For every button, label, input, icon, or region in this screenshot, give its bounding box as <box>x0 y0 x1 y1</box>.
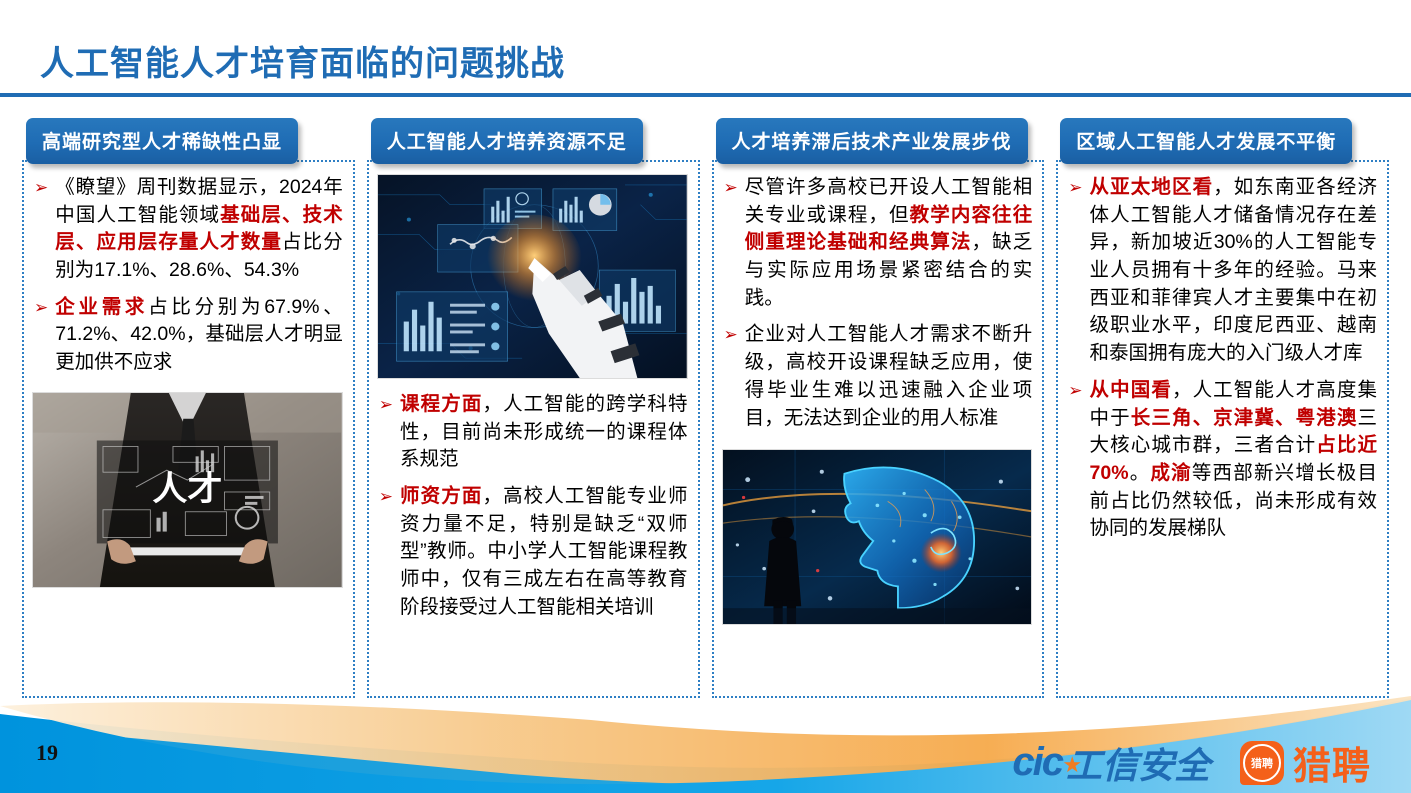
photo-caption: 人才 <box>152 470 222 507</box>
cic-wordmark: cic★ <box>1012 740 1062 785</box>
star-icon: ★ <box>1062 752 1080 778</box>
bullet-arrow-icon: ➢ <box>377 391 400 418</box>
list-item: ➢ 《瞭望》周刊数据显示，2024年中国人工智能领域基础层、技术层、应用层存量人… <box>32 174 343 285</box>
businessman-tablet-talent-photo: 人才 <box>32 392 343 588</box>
bullet-arrow-icon: ➢ <box>32 174 55 201</box>
bullet-text: 课程方面，人工智能的跨学科特性，目前尚未形成统一的课程体系规范 <box>400 391 688 474</box>
columns-container: 高端研究型人才稀缺性凸显 ➢ 《瞭望》周刊数据显示，2024年中国人工智能领域基… <box>0 118 1411 698</box>
bullet-text: 企业需求占比分别为67.9%、71.2%、42.0%，基础层人才明显更加供不应求 <box>55 294 343 377</box>
bullet-arrow-icon: ➢ <box>377 483 400 510</box>
person-ai-head-photo <box>722 449 1033 625</box>
column-4-body: ➢ 从亚太地区看，如东南亚各经济体人工智能人才储备情况存在差异，新加坡近30%的… <box>1056 160 1389 698</box>
column-2-body: ➢ 课程方面，人工智能的跨学科特性，目前尚未形成统一的课程体系规范 ➢ 师资方面… <box>367 160 700 698</box>
footer-logos: cic★ 工信安全 猎聘 猎聘 <box>1012 735 1371 790</box>
column-3: 人才培养滞后技术产业发展步伐 ➢ 尽管许多高校已开设人工智能相关专业或课程，但教… <box>712 118 1045 698</box>
page-number: 19 <box>36 740 58 766</box>
page-title: 人工智能人才培育面临的问题挑战 <box>40 36 565 85</box>
list-item: ➢ 课程方面，人工智能的跨学科特性，目前尚未形成统一的课程体系规范 <box>377 391 688 474</box>
column-4: 区域人工智能人才发展不平衡 ➢ 从亚太地区看，如东南亚各经济体人工智能人才储备情… <box>1056 118 1389 698</box>
bullet-arrow-icon: ➢ <box>1066 377 1089 404</box>
liepin-wordmark: 猎聘 <box>1293 735 1371 790</box>
liepin-bubble-icon: 猎聘 <box>1240 741 1284 785</box>
bullet-text: 尽管许多高校已开设人工智能相关专业或课程，但教学内容往往侧重理论基础和经典算法，… <box>745 174 1033 312</box>
bullet-text: 企业对人工智能人才需求不断升级，高校开设课程缺乏应用，使得毕业生难以迅速融入企业… <box>745 321 1033 432</box>
list-item: ➢ 师资方面，高校人工智能专业师资力量不足，特别是缺乏“双师型”教师。中小学人工… <box>377 483 688 621</box>
list-item: ➢ 尽管许多高校已开设人工智能相关专业或课程，但教学内容往往侧重理论基础和经典算… <box>722 174 1033 312</box>
list-item: ➢ 从中国看，人工智能人才高度集中于长三角、京津冀、粤港澳三大核心城市群，三者合… <box>1066 377 1377 543</box>
column-3-header: 人才培养滞后技术产业发展步伐 <box>716 118 1028 164</box>
title-divider <box>0 93 1411 97</box>
column-1-body: ➢ 《瞭望》周刊数据显示，2024年中国人工智能领域基础层、技术层、应用层存量人… <box>22 160 355 698</box>
bullet-arrow-icon: ➢ <box>1066 174 1089 201</box>
bullet-text: 《瞭望》周刊数据显示，2024年中国人工智能领域基础层、技术层、应用层存量人才数… <box>55 174 343 285</box>
column-3-body: ➢ 尽管许多高校已开设人工智能相关专业或课程，但教学内容往往侧重理论基础和经典算… <box>712 160 1045 698</box>
bullet-text: 从亚太地区看，如东南亚各经济体人工智能人才储备情况存在差异，新加坡近30%的人工… <box>1090 174 1378 368</box>
cic-logo: cic★ 工信安全 <box>1012 737 1210 789</box>
list-item: ➢ 企业需求占比分别为67.9%、71.2%、42.0%，基础层人才明显更加供不… <box>32 294 343 377</box>
column-2: 人工智能人才培养资源不足 <box>367 118 700 698</box>
column-4-header: 区域人工智能人才发展不平衡 <box>1060 118 1352 164</box>
liepin-logo: 猎聘 猎聘 <box>1240 735 1371 790</box>
bullet-arrow-icon: ➢ <box>722 321 745 348</box>
cic-chinese-name: 工信安全 <box>1066 737 1210 789</box>
column-1-header: 高端研究型人才稀缺性凸显 <box>26 118 298 164</box>
robot-hand-dashboard-photo <box>377 174 688 379</box>
bullet-text: 从中国看，人工智能人才高度集中于长三角、京津冀、粤港澳三大核心城市群，三者合计占… <box>1090 377 1378 543</box>
column-1: 高端研究型人才稀缺性凸显 ➢ 《瞭望》周刊数据显示，2024年中国人工智能领域基… <box>22 118 355 698</box>
list-item: ➢ 企业对人工智能人才需求不断升级，高校开设课程缺乏应用，使得毕业生难以迅速融入… <box>722 321 1033 432</box>
bullet-arrow-icon: ➢ <box>32 294 55 321</box>
bullet-arrow-icon: ➢ <box>722 174 745 201</box>
list-item: ➢ 从亚太地区看，如东南亚各经济体人工智能人才储备情况存在差异，新加坡近30%的… <box>1066 174 1377 368</box>
bullet-text: 师资方面，高校人工智能专业师资力量不足，特别是缺乏“双师型”教师。中小学人工智能… <box>400 483 688 621</box>
column-2-header: 人工智能人才培养资源不足 <box>371 118 643 164</box>
